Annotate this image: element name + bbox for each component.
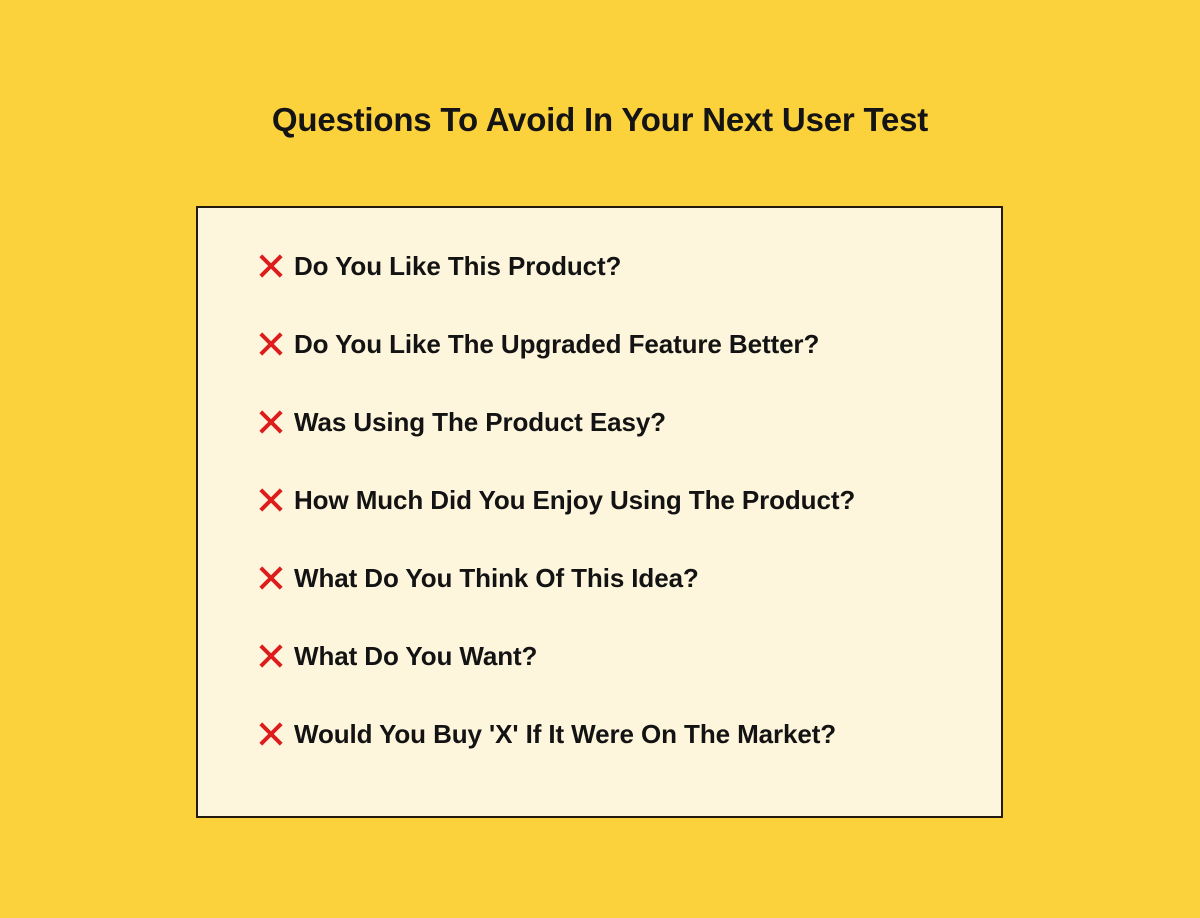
cross-mark-icon <box>258 643 284 669</box>
list-item-label: What Do You Think Of This Idea? <box>294 563 699 593</box>
list-item-label: What Do You Want? <box>294 641 537 671</box>
list-item-label: Do You Like This Product? <box>294 251 621 281</box>
cross-mark-icon <box>258 565 284 591</box>
cross-mark-icon <box>258 253 284 279</box>
list-item-label: Would You Buy 'X' If It Were On The Mark… <box>294 719 836 749</box>
list-item-label: Was Using The Product Easy? <box>294 407 666 437</box>
list-item: Was Using The Product Easy? <box>258 404 958 440</box>
list-item-label: Do You Like The Upgraded Feature Better? <box>294 329 819 359</box>
list-item: How Much Did You Enjoy Using The Product… <box>258 482 958 518</box>
list-item: What Do You Think Of This Idea? <box>258 560 958 596</box>
page-title: Questions To Avoid In Your Next User Tes… <box>0 98 1200 142</box>
list-item: Do You Like This Product? <box>258 248 958 284</box>
cross-mark-icon <box>258 331 284 357</box>
slide-canvas: Questions To Avoid In Your Next User Tes… <box>0 0 1200 918</box>
cross-mark-icon <box>258 487 284 513</box>
cross-mark-icon <box>258 721 284 747</box>
list-item: Would You Buy 'X' If It Were On The Mark… <box>258 716 958 752</box>
questions-card: Do You Like This Product? Do You Like Th… <box>196 206 1003 818</box>
cross-mark-icon <box>258 409 284 435</box>
questions-list: Do You Like This Product? Do You Like Th… <box>258 248 958 752</box>
list-item: Do You Like The Upgraded Feature Better? <box>258 326 958 362</box>
list-item: What Do You Want? <box>258 638 958 674</box>
list-item-label: How Much Did You Enjoy Using The Product… <box>294 485 855 515</box>
